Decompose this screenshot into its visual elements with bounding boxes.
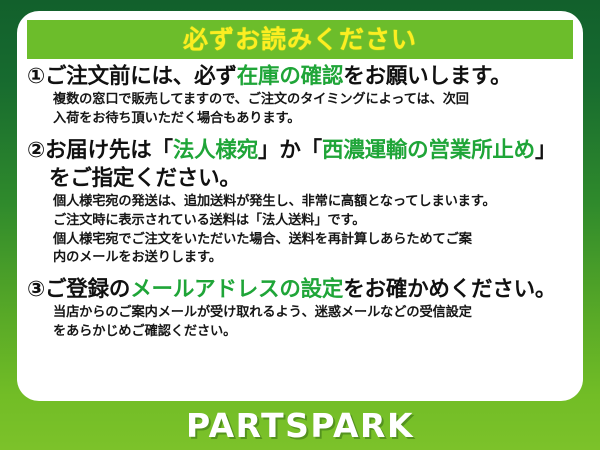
item-2-head-seg-0: ②お届け先は [27, 138, 152, 163]
item-2-bracket-close-1: 」 [258, 138, 279, 163]
notice-item-3-subline-2: をあらかじめご確認ください。 [27, 323, 575, 342]
notice-item-1-subline-2: 入荷をお待ち頂いただく場合もあります。 [27, 110, 575, 129]
item-2-bracket-open-1: 「 [152, 138, 173, 163]
notice-footer: PARTSPARK [0, 401, 600, 450]
item-1-head-highlight: 在庫の確認 [237, 64, 344, 89]
item-2-bracket-open-2: 「 [301, 138, 322, 163]
notice-item-1-headline: ①ご注文前には、必ず在庫の確認をお願いします。 [27, 63, 575, 91]
notice-item-2: ②お届け先は「法人様宛」か「西濃運輸の営業所止め」 をご指定ください。 個人様宅… [27, 137, 575, 268]
notice-item-1: ①ご注文前には、必ず在庫の確認をお願いします。 複数の窓口で販売してますので、ご… [27, 63, 575, 128]
notice-item-1-subline-1: 複数の窓口で販売してますので、ご注文のタイミングによっては、次回 [27, 91, 575, 110]
notice-item-2-headline: ②お届け先は「法人様宛」か「西濃運輸の営業所止め」 [27, 137, 575, 165]
notice-header-band: 必ずお読みください [27, 20, 573, 59]
item-2-head-highlight-1: 法人様宛 [173, 138, 258, 163]
notice-body: ①ご注文前には、必ず在庫の確認をお願いします。 複数の窓口で販売してますので、ご… [17, 63, 583, 344]
brand-logo-partspark: PARTSPARK [186, 409, 414, 442]
notice-frame: 必ずお読みください ①ご注文前には、必ず在庫の確認をお願いします。 複数の窓口で… [0, 0, 600, 450]
item-3-head-seg-2: をお確かめください。 [343, 277, 556, 302]
spacer-1 [27, 130, 575, 137]
item-3-head-seg-0: ③ご登録の [27, 277, 130, 302]
item-3-head-highlight: メールアドレスの設定 [130, 277, 343, 302]
notice-item-3-subline-1: 当店からのご案内メールが受け取れるよう、迷惑メールなどの受信設定 [27, 304, 575, 323]
notice-header-title: 必ずお読みください [183, 27, 417, 52]
item-2-bracket-close-2: 」 [535, 138, 556, 163]
item-1-head-seg-0: ①ご注文前には、必ず [27, 64, 237, 89]
notice-item-2-subline-2: ご注文時に表示されている送料は「法人送料」です。 [27, 212, 575, 231]
item-2-head-highlight-2: 西濃運輸の営業所止め [322, 138, 535, 163]
notice-item-2-headline-line2: をご指定ください。 [27, 165, 575, 193]
item-1-head-seg-2: をお願いします。 [343, 64, 511, 89]
notice-item-3-headline: ③ご登録のメールアドレスの設定をお確かめください。 [27, 276, 575, 304]
notice-item-3: ③ご登録のメールアドレスの設定をお確かめください。 当店からのご案内メールが受け… [27, 276, 575, 341]
notice-item-2-subline-4: 内のメールをお送りします。 [27, 249, 575, 268]
notice-item-2-subline-3: 個人様宅宛でご注文をいただいた場合、送料を再計算しあらためてご案 [27, 231, 575, 250]
notice-item-2-subline-1: 個人様宅宛の発送は、追加送料が発生し、非常に高額となってしまいます。 [27, 193, 575, 212]
item-2-head-seg-4: か [279, 138, 300, 163]
notice-card: 必ずお読みください ①ご注文前には、必ず在庫の確認をお願いします。 複数の窓口で… [17, 11, 583, 401]
